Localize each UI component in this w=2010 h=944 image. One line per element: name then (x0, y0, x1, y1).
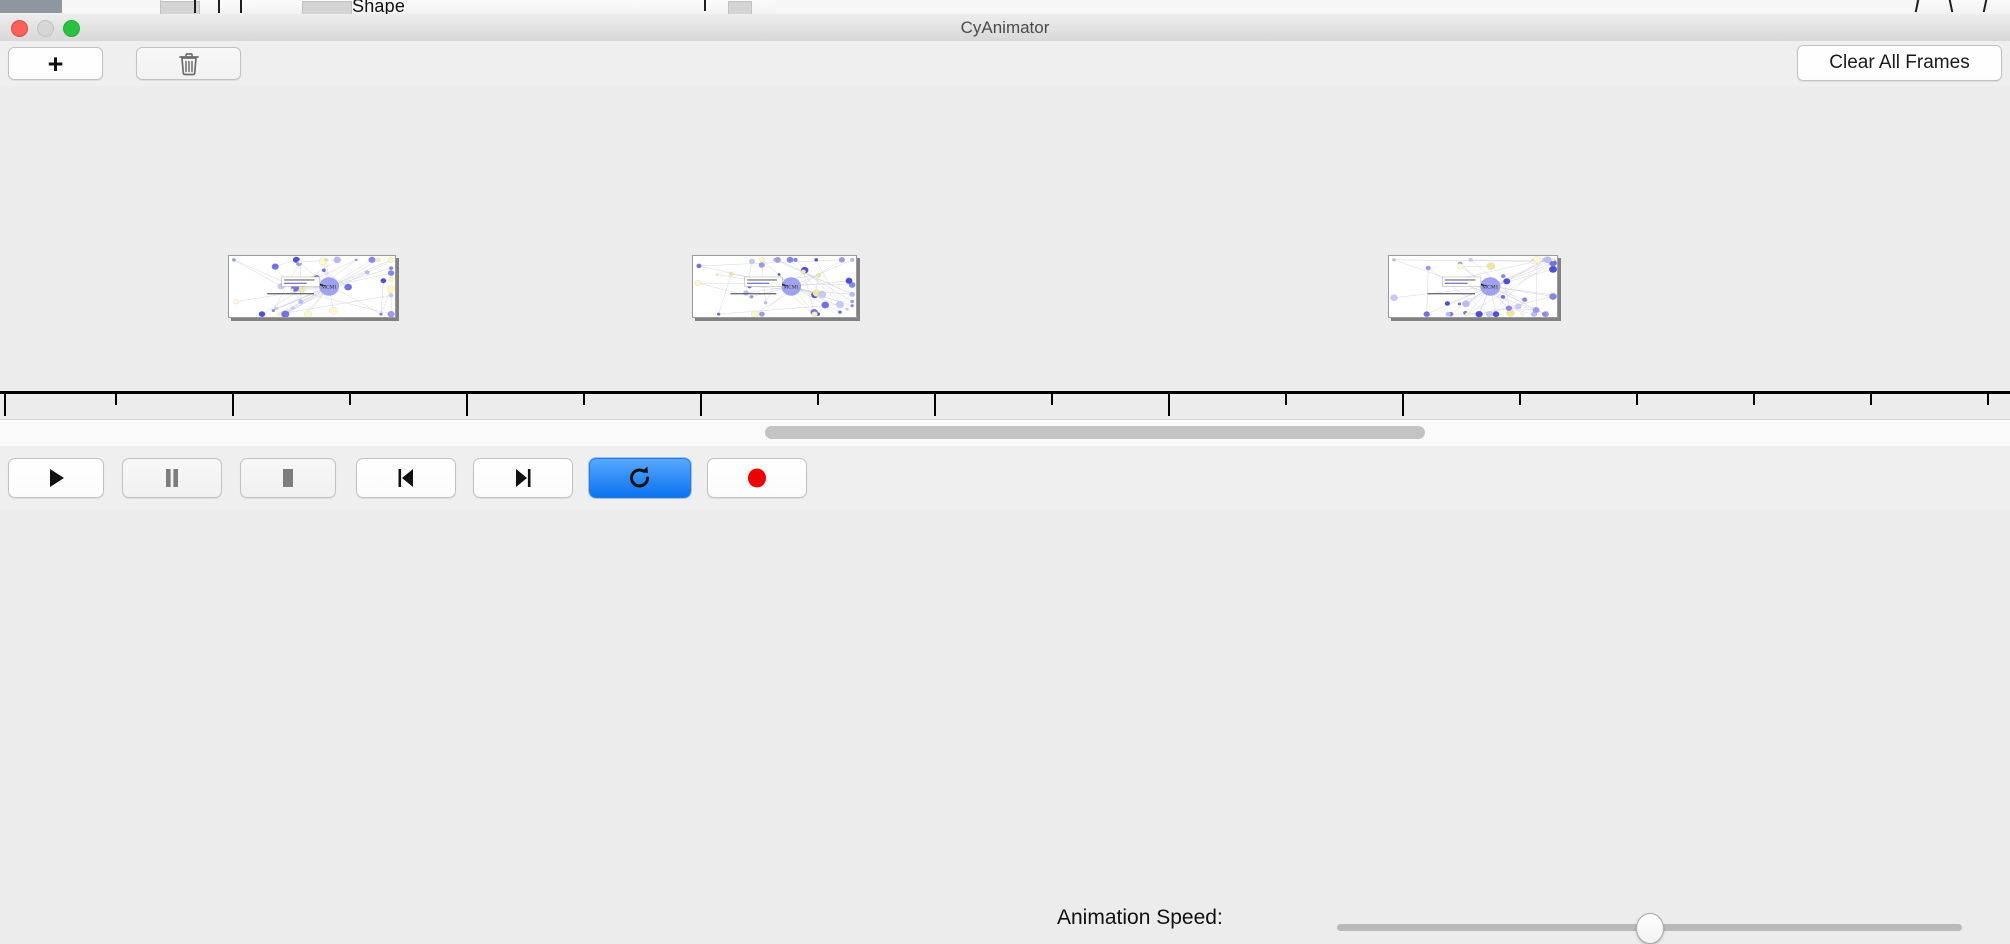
bg-tick (1949, 0, 1954, 12)
window-title: CyAnimator (0, 14, 2010, 41)
axis-tick-major (1402, 394, 1404, 416)
cyanimator-window: Shape CyAnimator + Clear All Frames (0, 0, 2010, 510)
axis-tick-major (700, 394, 702, 416)
timeline-panel[interactable]: MCM1MCM1MCM1 12131415161718 Seconds (0, 86, 2010, 419)
axis-tick-major (232, 394, 234, 416)
loop-icon (626, 464, 654, 492)
network-graph: MCM1 (1389, 256, 1557, 317)
toolbar: + Clear All Frames (0, 41, 2010, 87)
skip-back-icon (392, 464, 420, 492)
bg-tick (194, 0, 196, 13)
add-frame-button[interactable]: + (8, 47, 103, 80)
bg-tick (1983, 0, 1988, 12)
bg-tick (704, 0, 706, 11)
bg-box (302, 1, 352, 15)
frame-thumbnail[interactable]: MCM1 (228, 255, 396, 318)
delete-frame-button[interactable] (136, 47, 241, 80)
bg-tick (240, 0, 242, 13)
pause-icon (158, 464, 186, 492)
scrollbar-track[interactable] (0, 419, 2010, 447)
stop-button[interactable] (240, 458, 336, 498)
stop-icon (274, 464, 302, 492)
axis-tick-minor (1870, 394, 1872, 405)
background-window-tab (0, 0, 62, 13)
bg-tick (218, 0, 220, 13)
axis-tick-major (1168, 394, 1170, 416)
play-icon (42, 464, 70, 492)
record-button[interactable] (707, 458, 807, 498)
frame-thumbnail[interactable]: MCM1 (692, 255, 857, 318)
axis-tick-minor (115, 394, 117, 405)
axis-tick-minor (349, 394, 351, 405)
axis-tick-minor (1987, 394, 1989, 405)
trash-icon (178, 52, 200, 76)
axis-tick-minor (1285, 394, 1287, 405)
axis-tick-major (934, 394, 936, 416)
frame-thumbnail[interactable]: MCM1 (1388, 255, 1558, 318)
skip-forward-icon (509, 464, 537, 492)
clear-all-frames-button[interactable]: Clear All Frames (1797, 45, 2002, 81)
network-graph: MCM1 (229, 256, 395, 317)
skip-to-end-button[interactable] (473, 458, 573, 498)
bg-box (728, 1, 752, 15)
bg-seg (776, 0, 1917, 13)
play-button[interactable] (8, 458, 104, 498)
axis-tick-major (466, 394, 468, 416)
title-bar[interactable]: CyAnimator (0, 14, 2010, 42)
bg-seg (124, 0, 161, 13)
axis-tick-minor (817, 394, 819, 405)
loop-button[interactable] (589, 458, 691, 498)
axis-tick-minor (1636, 394, 1638, 405)
bg-seg (62, 0, 125, 13)
scrollbar-thumb[interactable] (765, 426, 1425, 439)
skip-to-start-button[interactable] (356, 458, 456, 498)
axis-tick-minor (1051, 394, 1053, 405)
axis-tick-minor (583, 394, 585, 405)
playback-control-bar: Animation Speed: (0, 446, 2010, 510)
axis-tick-minor (1519, 394, 1521, 405)
axis-tick-minor (1753, 394, 1755, 405)
background-window-strip: Shape (0, 0, 2010, 15)
pause-button[interactable] (122, 458, 222, 498)
background-window-shape-label: Shape (352, 0, 405, 15)
animation-speed-slider-knob[interactable] (1636, 913, 1664, 944)
record-icon (743, 464, 771, 492)
animation-speed-label: Animation Speed: (1057, 906, 1223, 930)
timeline-axis-line (0, 391, 2010, 394)
clear-all-frames-label: Clear All Frames (1829, 52, 1969, 74)
network-graph: MCM1 (693, 256, 856, 317)
axis-tick-major (4, 394, 6, 416)
